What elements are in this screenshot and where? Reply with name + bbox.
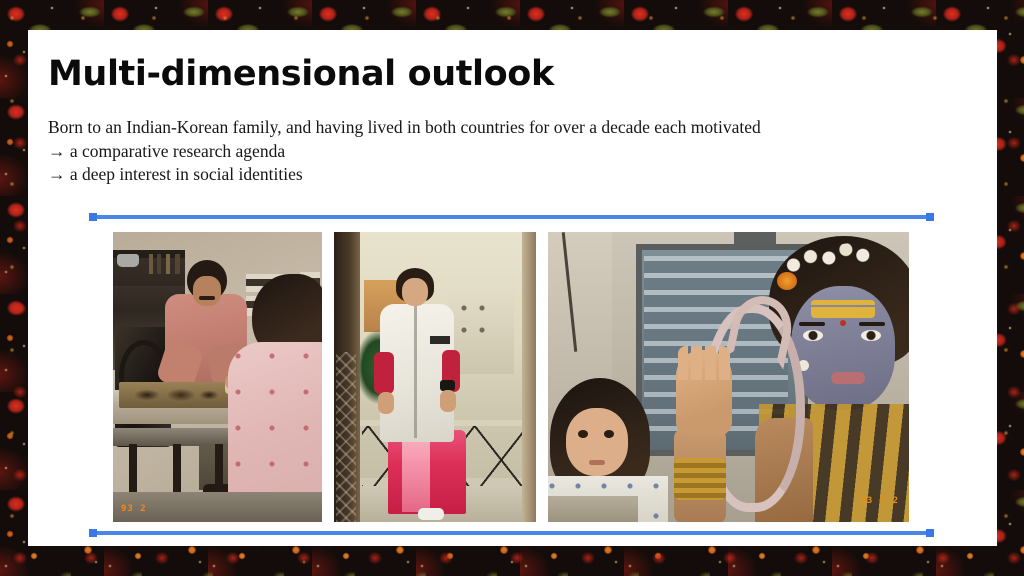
slide: Multi-dimensional outlook Born to an Ind… — [0, 0, 1024, 576]
photo-1-scene: 93 2 — [113, 232, 322, 522]
bottles — [149, 254, 183, 274]
performer-eyebrow-left — [799, 322, 825, 326]
door-frame-right — [522, 232, 536, 522]
performer-eyebrow-right — [859, 322, 885, 326]
lab-coat-lapel — [414, 306, 417, 438]
body-line-3: → a deep interest in social identities — [48, 163, 938, 187]
child-face — [566, 408, 628, 476]
ground — [548, 496, 638, 522]
body-line-2: → a comparative research agenda — [48, 140, 938, 164]
kurta-sleeve-left — [374, 352, 394, 394]
woman-face — [402, 278, 428, 306]
performer-eye-left — [803, 330, 823, 341]
photo-strip: 93 2 — [113, 232, 909, 522]
photo-3-scene: 93 3 2 — [548, 232, 909, 522]
tilak-forehead-marking — [811, 300, 875, 318]
gold-bangles — [674, 458, 726, 500]
divider-bottom-cap-left — [89, 529, 97, 537]
window-vent — [734, 232, 776, 244]
body-copy: Born to an Indian-Korean family, and hav… — [48, 116, 938, 187]
right-hand — [440, 390, 456, 412]
lab-coat-pocket — [430, 336, 450, 344]
divider-top-cap-right — [926, 213, 934, 221]
photo-child-with-shiva-performer: 93 3 2 — [548, 232, 909, 522]
bindi — [840, 320, 846, 326]
craftsman-face — [193, 276, 221, 306]
white-shoes — [418, 508, 444, 520]
marigold-flower — [777, 272, 797, 290]
divider-top — [90, 215, 933, 219]
background-building-windows — [458, 300, 510, 362]
photo-block-printing-workshop: 93 2 — [113, 232, 322, 522]
door-grille — [336, 352, 356, 522]
divider-bottom — [90, 531, 933, 535]
photo-woman-lab-coat-balcony — [334, 232, 536, 522]
performer-eye-right — [861, 330, 881, 341]
page-title: Multi-dimensional outlook — [48, 54, 554, 94]
photo-1-date-stamp: 93 2 — [121, 504, 147, 514]
print-block-pattern — [129, 386, 219, 404]
craftsman-moustache — [199, 296, 215, 300]
child-mouth — [589, 460, 605, 465]
divider-top-cap-left — [89, 213, 97, 221]
photo-3-date-stamp: 93 3 2 — [860, 496, 899, 506]
child-eye-right — [604, 430, 614, 438]
left-hand — [378, 392, 394, 414]
body-line-1: Born to an Indian-Korean family, and hav… — [48, 116, 938, 140]
metal-pot — [117, 254, 139, 267]
palm-fingers — [678, 346, 730, 380]
photo-2-scene — [334, 232, 536, 522]
divider-bottom-cap-right — [926, 529, 934, 537]
child-eye-left — [578, 430, 588, 438]
performer-lips — [831, 372, 865, 384]
